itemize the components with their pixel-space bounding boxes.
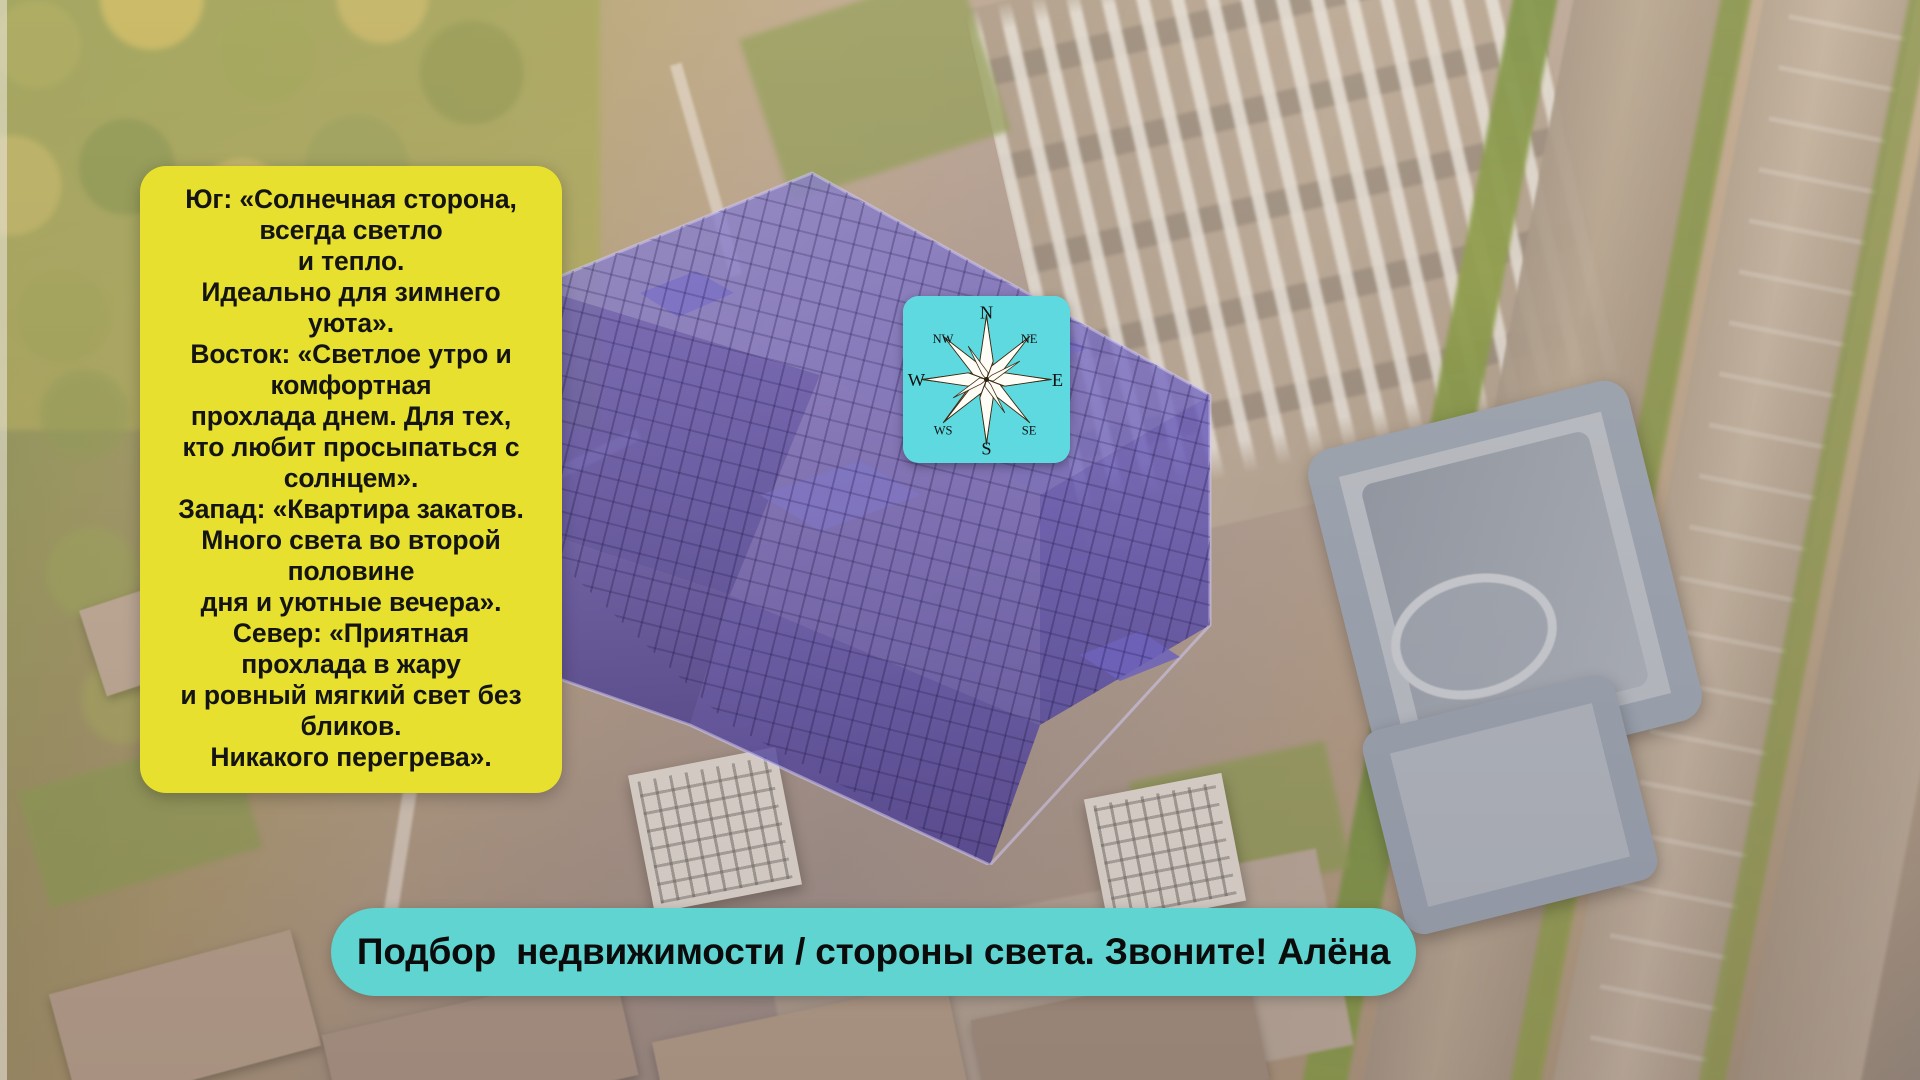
compass-label-se: SE: [1022, 424, 1037, 438]
compass-label-ws: WS: [934, 424, 953, 438]
orientation-benefits-line: и тепло.: [156, 246, 546, 277]
compass-label-s: S: [981, 439, 991, 459]
orientation-benefits-card: Юг: «Солнечная сторона,всегда светлои те…: [140, 166, 562, 793]
orientation-benefits-line: бликов.: [156, 711, 546, 742]
orientation-benefits-line: Идеально для зимнего: [156, 277, 546, 308]
compass-card: N S W E NW NE WS SE: [903, 296, 1070, 463]
orientation-benefits-line: Много света во второй: [156, 525, 546, 556]
highlighted-building-window-grid: [520, 165, 1240, 865]
orientation-benefits-line: Запад: «Квартира закатов.: [156, 494, 546, 525]
orientation-benefits-line: прохлада в жару: [156, 649, 546, 680]
orientation-benefits-line: дня и уютные вечера».: [156, 587, 546, 618]
orientation-benefits-line: уюта».: [156, 308, 546, 339]
orientation-benefits-line: Север: «Приятная: [156, 618, 546, 649]
promo-image: N S W E NW NE WS SE Юг: «Солнечная сторо…: [0, 0, 1920, 1080]
orientation-benefits-line: прохлада днем. Для тех,: [156, 401, 546, 432]
compass-label-w: W: [908, 370, 926, 390]
orientation-benefits-line: комфортная: [156, 370, 546, 401]
compass-label-ne: NE: [1021, 332, 1038, 346]
compass-label-e: E: [1052, 370, 1063, 390]
orientation-benefits-line: кто любит просыпаться с: [156, 432, 546, 463]
compass-label-nw: NW: [933, 332, 954, 346]
contact-banner-text: Подбор недвижимости / стороны света. Зво…: [357, 931, 1390, 973]
orientation-benefits-line: солнцем».: [156, 463, 546, 494]
orientation-benefits-line: Юг: «Солнечная сторона,: [156, 184, 546, 215]
orientation-benefits-line: и ровный мягкий свет без: [156, 680, 546, 711]
orientation-benefits-line: Восток: «Светлое утро и: [156, 339, 546, 370]
left-edge-border: [0, 0, 7, 1080]
contact-banner[interactable]: Подбор недвижимости / стороны света. Зво…: [331, 908, 1416, 996]
orientation-benefits-line: Никакого перегрева».: [156, 742, 546, 773]
orientation-benefits-line: всегда светло: [156, 215, 546, 246]
orientation-benefits-line: половине: [156, 556, 546, 587]
compass-label-n: N: [980, 303, 993, 323]
